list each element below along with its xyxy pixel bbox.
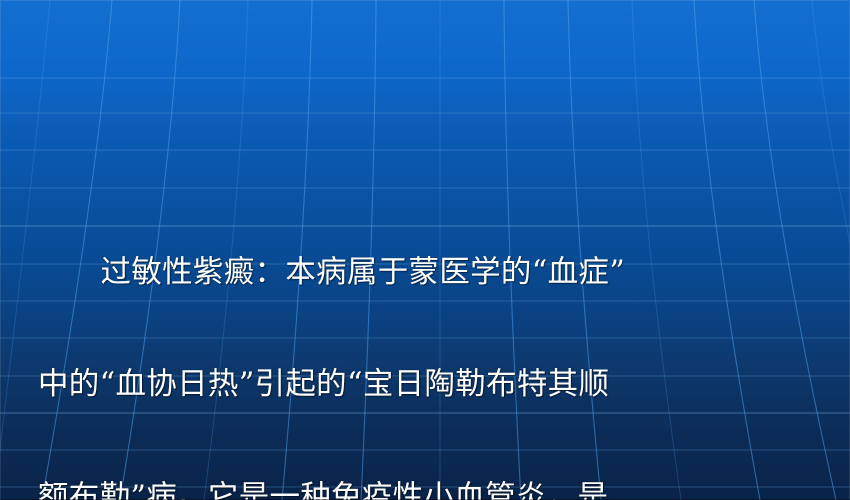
presentation-slide: 过敏性紫癜：本病属于蒙医学的“血症” 中的“血协日热”引起的“宝日陶勒布特其顺 … — [0, 0, 850, 500]
paragraph-1-line-3: 额布勤”病。它是一种免疫性小血管炎，是 — [38, 479, 828, 500]
paragraph-1-line-1: 过敏性紫癜：本病属于蒙医学的“血症” — [38, 254, 828, 292]
paragraph-1-line-2: 中的“血协日热”引起的“宝日陶勒布特其顺 — [38, 366, 828, 404]
paragraph-1: 过敏性紫癜：本病属于蒙医学的“血症” 中的“血协日热”引起的“宝日陶勒布特其顺 … — [38, 179, 828, 500]
slide-text-body: 过敏性紫癜：本病属于蒙医学的“血症” 中的“血协日热”引起的“宝日陶勒布特其顺 … — [38, 66, 828, 500]
